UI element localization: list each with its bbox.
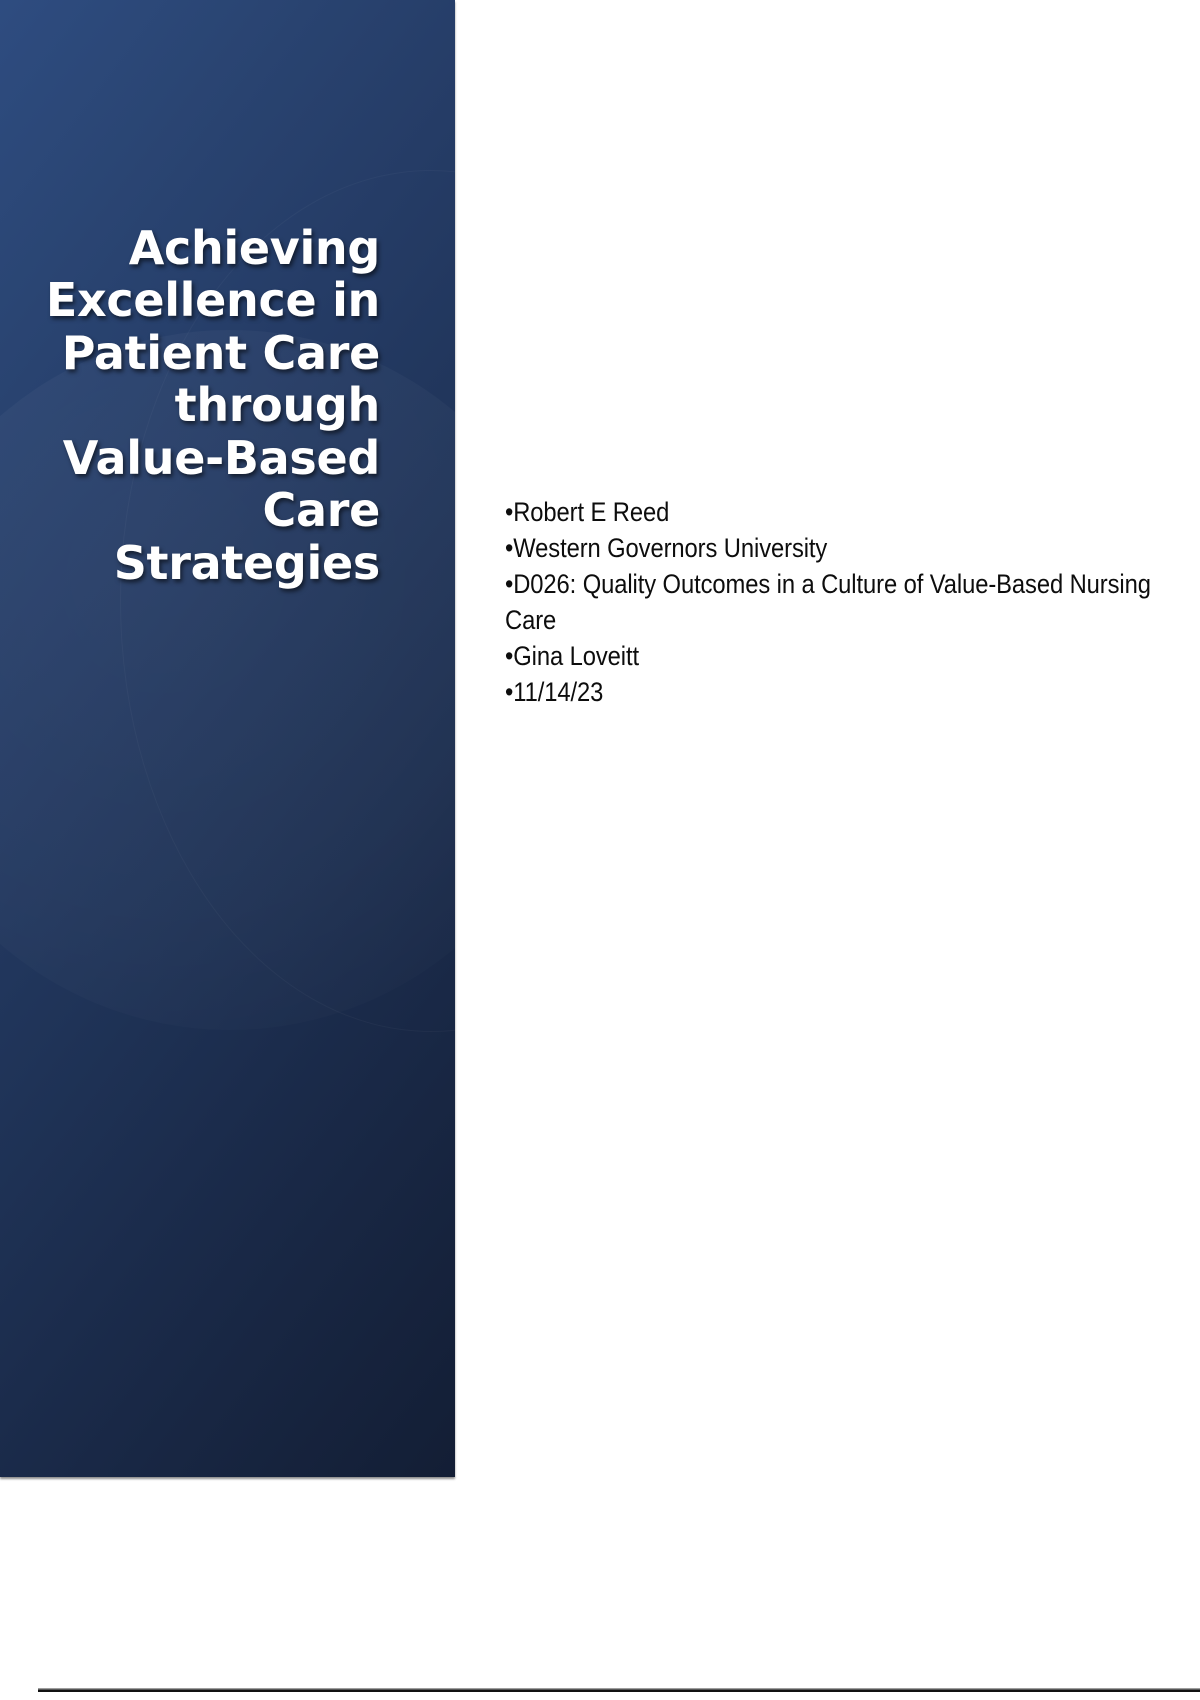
list-item: •Gina Loveitt <box>505 639 1174 675</box>
list-item: •11/14/23 <box>505 675 1174 711</box>
list-item: •Robert E Reed <box>505 495 1174 531</box>
title-panel: Achieving Excellence in Patient Care thr… <box>0 0 455 1477</box>
presenter-details-list: •Robert E Reed •Western Governors Univer… <box>505 495 1200 710</box>
list-item-label: D026: Quality Outcomes in a Culture of V… <box>505 569 1151 635</box>
slide-canvas: Achieving Excellence in Patient Care thr… <box>0 0 1200 1700</box>
list-item-label: Gina Loveitt <box>513 641 639 671</box>
page-title: Achieving Excellence in Patient Care thr… <box>40 222 380 589</box>
list-item-label: 11/14/23 <box>513 677 603 707</box>
list-item: •Western Governors University <box>505 531 1174 567</box>
list-item: •D026: Quality Outcomes in a Culture of … <box>505 567 1174 639</box>
list-item-label: Robert E Reed <box>513 497 669 527</box>
list-item-label: Western Governors University <box>513 533 827 563</box>
footer-divider <box>38 1688 1200 1692</box>
